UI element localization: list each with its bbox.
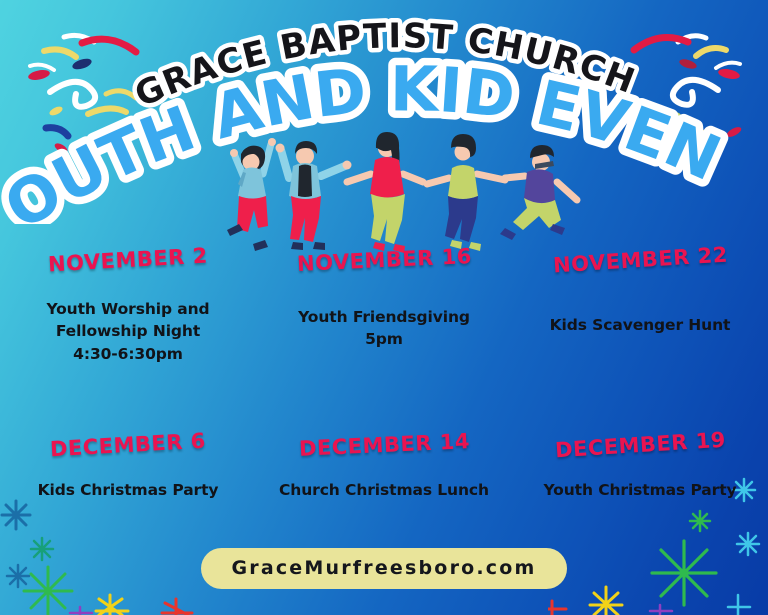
event-description-2: Youth Friendsgiving 5pm <box>262 306 506 351</box>
event-cell-5: DECEMBER 14 Church Christmas Lunch <box>256 433 512 528</box>
person-2 <box>276 141 352 250</box>
event-description-line: Fellowship Night <box>6 320 250 342</box>
person-5 <box>500 145 577 240</box>
event-cell-1: NOVEMBER 2 Youth Worship and Fellowship … <box>0 248 256 433</box>
events-grid: NOVEMBER 2 Youth Worship and Fellowship … <box>0 248 768 528</box>
event-description-line: Youth Christmas Party <box>518 479 762 501</box>
event-description-line: Kids Christmas Party <box>6 479 250 501</box>
event-cell-3: NOVEMBER 22 Kids Scavenger Hunt <box>512 248 768 433</box>
event-description-5: Church Christmas Lunch <box>262 479 506 501</box>
website-url-pill[interactable]: GraceMurfreesboro.com <box>201 548 566 589</box>
event-cell-6: DECEMBER 19 Youth Christmas Party <box>512 433 768 528</box>
event-date-4: DECEMBER 6 <box>49 429 206 462</box>
event-description-1: Youth Worship and Fellowship Night 4:30-… <box>6 298 250 365</box>
person-4 <box>427 134 505 251</box>
person-1 <box>227 138 276 251</box>
events-row-december: DECEMBER 6 Kids Christmas Party DECEMBER… <box>0 433 768 528</box>
footer: GraceMurfreesboro.com <box>0 548 768 589</box>
event-date-6: DECEMBER 19 <box>554 428 726 463</box>
event-description-line: 4:30-6:30pm <box>6 343 250 365</box>
event-date-2: NOVEMBER 16 <box>296 244 472 276</box>
event-cell-2: NOVEMBER 16 Youth Friendsgiving 5pm <box>256 248 512 433</box>
event-description-line: 5pm <box>262 328 506 350</box>
event-date-3: NOVEMBER 22 <box>552 243 728 278</box>
event-date-1: NOVEMBER 2 <box>48 244 209 277</box>
event-date-5: DECEMBER 14 <box>298 429 470 461</box>
event-description-line: Kids Scavenger Hunt <box>518 314 762 336</box>
events-row-november: NOVEMBER 2 Youth Worship and Fellowship … <box>0 248 768 433</box>
event-description-6: Youth Christmas Party <box>518 479 762 501</box>
event-description-4: Kids Christmas Party <box>6 479 250 501</box>
event-cell-4: DECEMBER 6 Kids Christmas Party <box>0 433 256 528</box>
event-poster: GRACE BAPTIST CHURCH GRACE BAPTIST CHURC… <box>0 0 768 615</box>
event-description-line: Youth Friendsgiving <box>262 306 506 328</box>
event-description-3: Kids Scavenger Hunt <box>518 314 762 336</box>
person-3 <box>347 132 423 253</box>
event-description-line: Youth Worship and <box>6 298 250 320</box>
event-description-line: Church Christmas Lunch <box>262 479 506 501</box>
jumping-people-illustration <box>205 126 605 261</box>
